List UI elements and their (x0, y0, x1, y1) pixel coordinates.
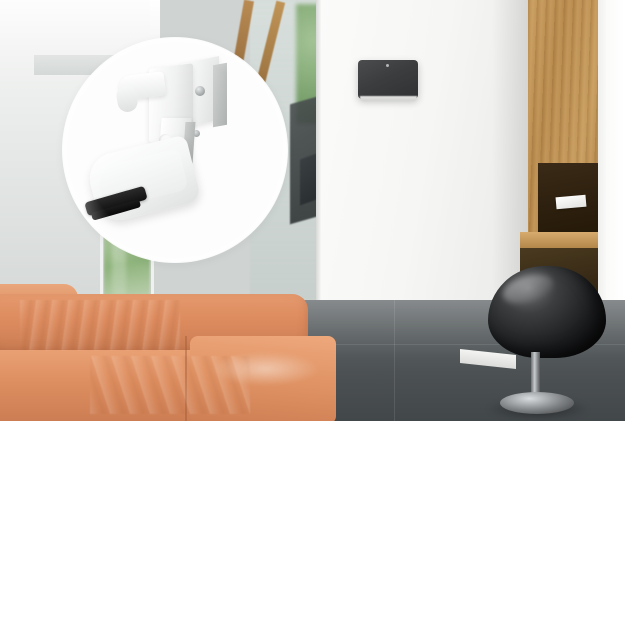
interior-room-photo (0, 0, 625, 421)
product-circle-inset (63, 38, 287, 262)
speaker-mount-shadow (360, 96, 417, 101)
desk-surface (520, 232, 600, 248)
sofa-leather-highlight (210, 352, 320, 386)
tile-grout-line-4 (394, 300, 395, 421)
sofa-leather-creases-back (20, 300, 180, 350)
inset-vignette (63, 38, 287, 262)
caption-panel: High-grade steel construction Built to l… (0, 421, 625, 625)
product-feature-card: High-grade steel construction Built to l… (0, 0, 625, 625)
speaker-status-led (386, 64, 389, 67)
chair-pedestal-base (500, 392, 574, 414)
